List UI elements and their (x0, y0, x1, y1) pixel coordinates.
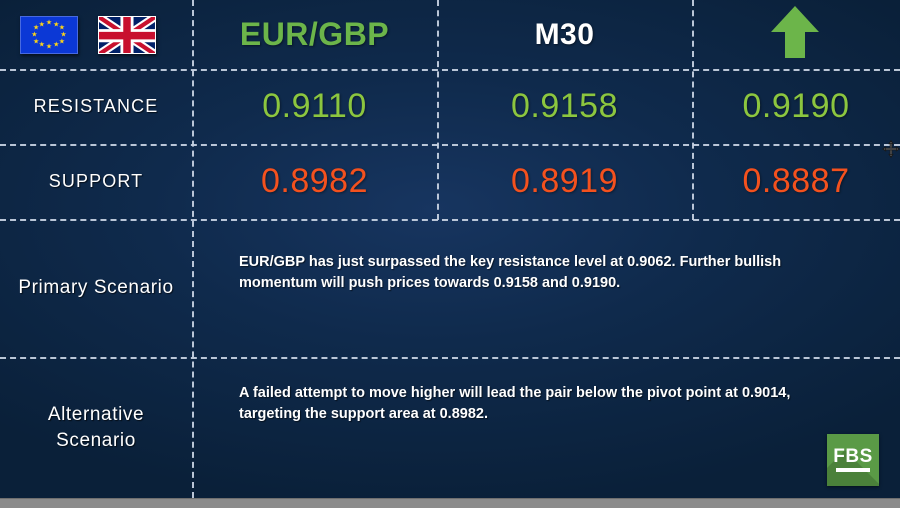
timeframe-title: M30 (437, 0, 692, 69)
mouse-cursor (882, 140, 900, 158)
arrow-shaft (785, 31, 805, 58)
support-value-3: 0.8887 (692, 144, 900, 219)
arrow-head (771, 6, 819, 32)
support-value-2: 0.8919 (437, 144, 692, 219)
resistance-value-2: 0.9158 (437, 69, 692, 144)
resistance-row-label: RESISTANCE (0, 69, 192, 144)
alternative-scenario-label: Alternative Scenario (0, 357, 192, 498)
eu-stars: ★ ★ ★ ★ ★ ★ ★ ★ ★ ★ ★ ★ (21, 17, 77, 53)
eu-flag-icon: ★ ★ ★ ★ ★ ★ ★ ★ ★ ★ ★ ★ (20, 16, 78, 54)
alternative-scenario-label-text: Alternative Scenario (36, 402, 156, 453)
fbs-logo-underline (836, 468, 870, 472)
flag-group: ★ ★ ★ ★ ★ ★ ★ ★ ★ ★ ★ ★ (20, 16, 156, 54)
support-value-1: 0.8982 (192, 144, 437, 219)
uk-flag-icon (98, 16, 156, 54)
fbs-logo-text: FBS (827, 446, 879, 468)
forex-signal-card: ★ ★ ★ ★ ★ ★ ★ ★ ★ ★ ★ ★ (0, 0, 900, 498)
primary-scenario-text: EUR/GBP has just surpassed the key resis… (239, 252, 821, 293)
fbs-logo: FBS (827, 434, 879, 486)
resistance-value-3: 0.9190 (692, 69, 900, 144)
primary-scenario-label: Primary Scenario (0, 219, 192, 357)
support-row-label: SUPPORT (0, 144, 192, 219)
currency-pair-title: EUR/GBP (192, 0, 437, 69)
alternative-scenario-text: A failed attempt to move higher will lea… (239, 383, 814, 424)
resistance-value-1: 0.9110 (192, 69, 437, 144)
